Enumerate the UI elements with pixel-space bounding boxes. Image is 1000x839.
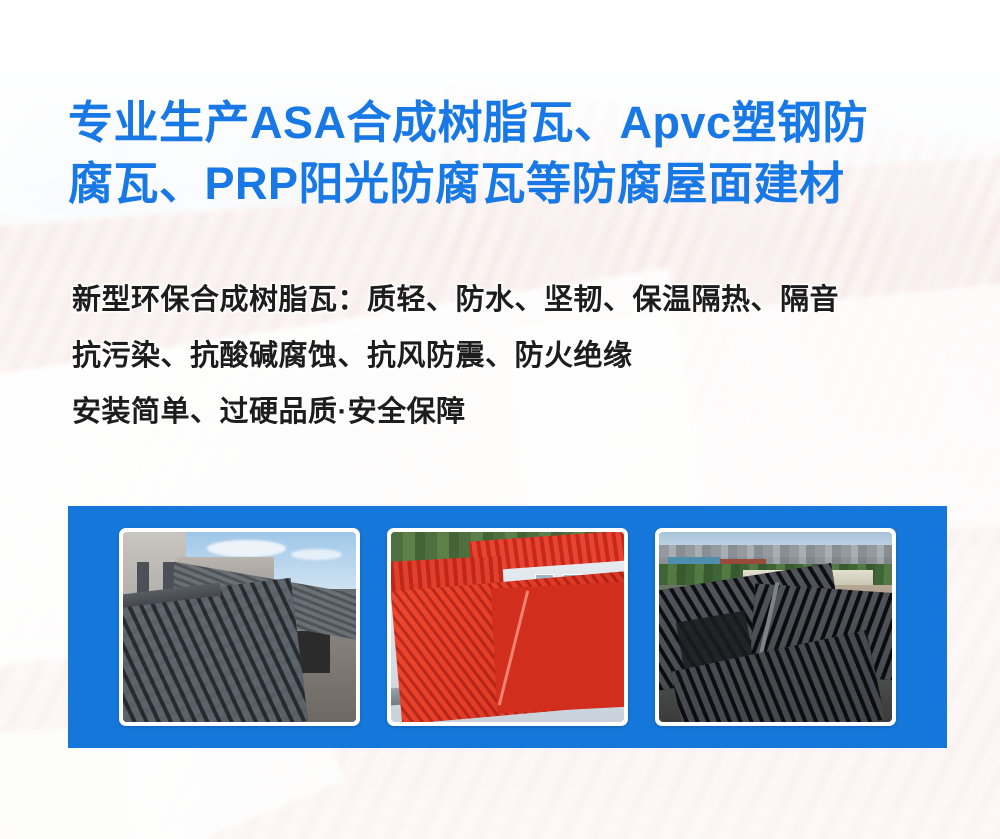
- subheadline-line-2: 抗污染、抗酸碱腐蚀、抗风防震、防火绝缘: [72, 328, 972, 384]
- subheadline-line-3: 安装简单、过硬品质·安全保障: [72, 384, 972, 440]
- gallery-photo-3[interactable]: [655, 528, 896, 726]
- gallery-photo-1[interactable]: [119, 528, 360, 726]
- headline: 专业生产ASA合成树脂瓦、Apvc塑钢防 腐瓦、PRP阳光防腐瓦等防腐屋面建材: [68, 92, 948, 214]
- subheadline-line-1: 新型环保合成树脂瓦：质轻、防水、坚韧、保温隔热、隔音: [72, 272, 972, 328]
- headline-line-2: 腐瓦、PRP阳光防腐瓦等防腐屋面建材: [68, 153, 948, 214]
- photo-grey-resin-tile-roof: [123, 532, 356, 722]
- headline-line-1: 专业生产ASA合成树脂瓦、Apvc塑钢防: [68, 92, 948, 153]
- product-promo-banner: 专业生产ASA合成树脂瓦、Apvc塑钢防 腐瓦、PRP阳光防腐瓦等防腐屋面建材 …: [0, 0, 1000, 839]
- photo-red-resin-tile-roof: [391, 532, 624, 722]
- photo-black-resin-tile-roof: [659, 532, 892, 722]
- photo-gallery-panel: [68, 506, 947, 748]
- subheadline: 新型环保合成树脂瓦：质轻、防水、坚韧、保温隔热、隔音 抗污染、抗酸碱腐蚀、抗风防…: [72, 272, 972, 440]
- gallery-photo-2[interactable]: [387, 528, 628, 726]
